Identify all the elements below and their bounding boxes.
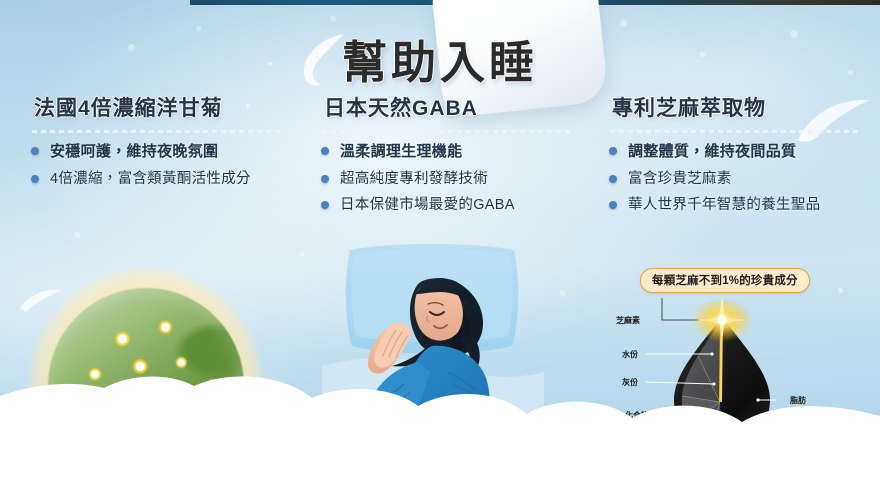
page-title: 幫助入睡 <box>0 26 880 91</box>
droplet-graphic <box>600 262 880 462</box>
list-item: 超高純度專利發酵技術 <box>320 170 588 190</box>
list-item: 日本保健市場最愛的GABA <box>320 196 588 216</box>
droplet-label-ash: 灰份 <box>622 377 638 388</box>
list-item: 富含珍貴芝麻素 <box>608 170 876 190</box>
list-item: 安穩呵護，維持夜晚氛圍 <box>30 142 298 162</box>
chamomile-photo <box>48 288 244 484</box>
bullet-list: 調整體質，維持夜間品質 富含珍貴芝麻素 華人世界千年智慧的養生聖品 <box>608 142 876 215</box>
list-item: 4倍濃縮，富含類黃酮活性成分 <box>30 170 298 190</box>
bullet-list: 溫柔調理生理機能 超高純度專利發酵技術 日本保健市場最愛的GABA <box>320 142 588 215</box>
column-heading: 專利芝麻萃取物 <box>612 96 876 122</box>
column-heading: 法國4倍濃縮洋甘菊 <box>34 96 298 122</box>
heading-divider <box>32 130 280 133</box>
droplet-label-protein: 蛋白質 <box>622 434 646 445</box>
chamomile-image <box>48 288 244 484</box>
list-item: 華人世界千年智慧的養生聖品 <box>608 196 876 216</box>
feature-column-sesame: 專利芝麻萃取物 調整體質，維持夜間品質 富含珍貴芝麻素 華人世界千年智慧的養生聖… <box>608 96 876 223</box>
heading-divider <box>322 130 570 133</box>
infographic-canvas: 幫助入睡 法國4倍濃縮洋甘菊 安穩呵護，維持夜晚氛圍 4倍濃縮，富含類黃酮活性成… <box>0 0 880 494</box>
droplet-label-water: 水份 <box>622 349 638 360</box>
droplet-label-fat: 脂肪 <box>790 395 806 406</box>
bokeh-dot <box>300 252 305 257</box>
droplet-label-sesamin: 芝麻素 <box>616 315 640 326</box>
feature-columns: 法國4倍濃縮洋甘菊 安穩呵護，維持夜晚氛圍 4倍濃縮，富含類黃酮活性成分 日本天… <box>0 96 880 236</box>
column-heading: 日本天然GABA <box>324 96 588 122</box>
bokeh-dot <box>560 290 566 296</box>
heading-divider <box>610 130 858 133</box>
feature-column-chamomile: 法國4倍濃縮洋甘菊 安穩呵護，維持夜晚氛圍 4倍濃縮，富含類黃酮活性成分 <box>30 96 298 196</box>
list-item: 溫柔調理生理機能 <box>320 142 588 162</box>
bullet-list: 安穩呵護，維持夜晚氛圍 4倍濃縮，富含類黃酮活性成分 <box>30 142 298 189</box>
droplet-label-carbohydrate: 碳水化合物 <box>609 410 649 421</box>
list-item: 調整體質，維持夜間品質 <box>608 142 876 162</box>
bokeh-dot <box>330 16 336 22</box>
sesame-droplet-diagram: 每顆芝麻不到1%的珍貴成分 <box>600 262 880 462</box>
sleeping-woman-illustration <box>322 238 544 438</box>
feature-column-gaba: 日本天然GABA 溫柔調理生理機能 超高純度專利發酵技術 日本保健市場最愛的GA… <box>320 96 588 223</box>
